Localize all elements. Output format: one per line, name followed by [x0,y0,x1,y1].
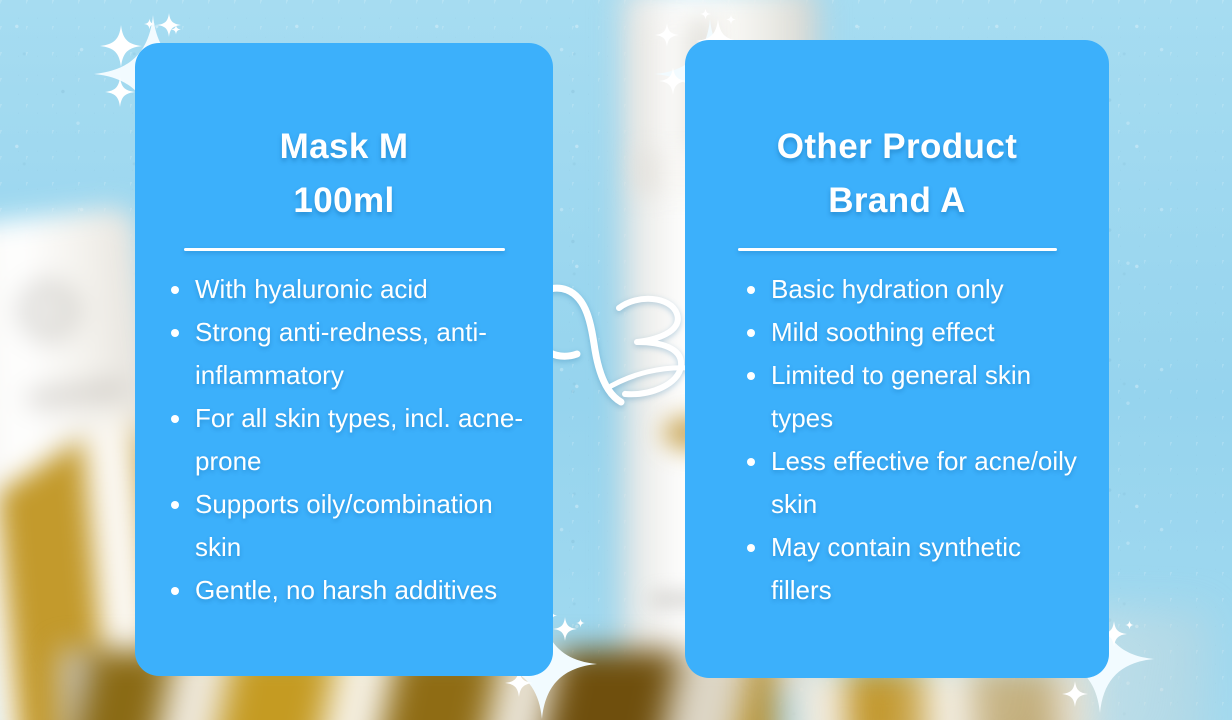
card-left-title-line2: 100ml [135,174,553,228]
list-item: Strong anti-redness, anti-inflammatory [165,311,545,397]
card-right-title: Other Product Brand A [685,120,1109,228]
sparkle-icon-dot-bottom-right-b [1125,620,1134,630]
list-item: Mild soothing effect [741,311,1079,354]
card-left-feature-list: With hyaluronic acid Strong anti-redness… [135,268,553,612]
sparkle-icon-small-bottom-right-b [1062,680,1088,708]
list-item: Less effective for acne/oily skin [741,440,1079,526]
sparkle-icon-dot-top-left-b [171,24,181,35]
tube-label-text-blur [27,382,124,406]
list-item: May contain synthetic fillers [741,526,1079,612]
card-right-title-line2: Brand A [685,174,1109,228]
tube-logo-mark [12,274,86,348]
card-left-title-line1: Mask M [135,120,553,174]
comparison-card-left: Mask M 100ml With hyaluronic acid Strong… [135,43,553,676]
comparison-card-right: Other Product Brand A Basic hydration on… [685,40,1109,678]
sparkle-icon-tiny-top-center-a [655,22,679,48]
list-item: Limited to general skin types [741,354,1079,440]
card-left-divider [184,248,505,251]
list-item: For all skin types, incl. acne-prone [165,397,545,483]
sparkle-icon-dot-bottom-left-b [576,618,585,628]
card-right-divider [738,248,1057,251]
sparkle-icon-small-top-left-b [105,76,135,108]
list-item: Gentle, no harsh additives [165,569,545,612]
list-item: With hyaluronic acid [165,268,545,311]
sparkle-icon-small-top-center-b [659,66,687,96]
sparkle-icon-dot-top-left [144,18,155,30]
card-right-title-line1: Other Product [685,120,1109,174]
card-right-feature-list: Basic hydration only Mild soothing effec… [685,268,1109,612]
card-left-title: Mask M 100ml [135,120,553,228]
list-item: Supports oily/combination skin [165,483,545,569]
list-item: Basic hydration only [741,268,1079,311]
sparkle-icon-dot-top-center-a [700,8,711,20]
sparkle-icon-dot-top-center-b [726,14,736,25]
